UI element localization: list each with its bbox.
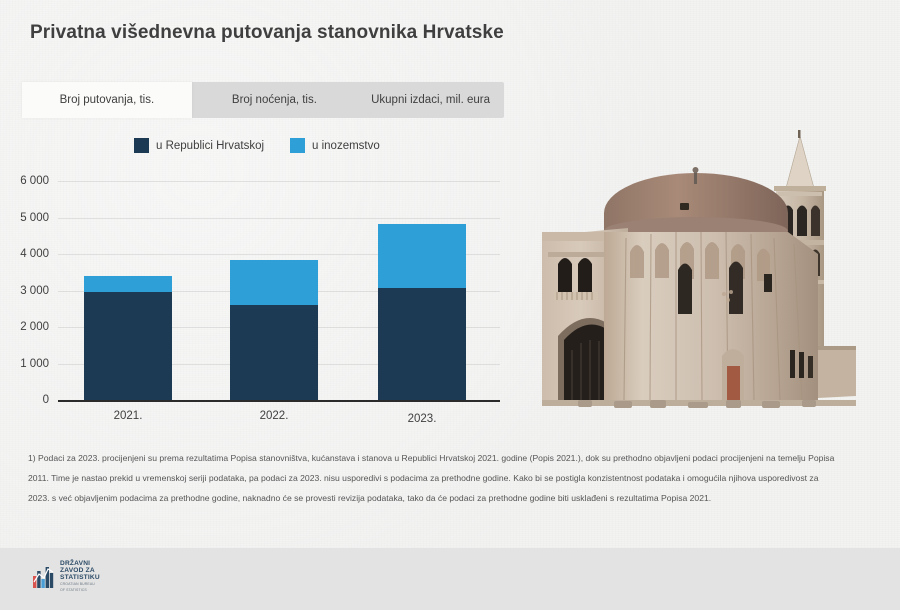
footnote-text: 1) Podaci za 2023. procijenjeni su prema… (28, 448, 840, 509)
ytick-label-2000: 2 000 (20, 321, 49, 333)
right-wall (818, 346, 856, 398)
stone-base (542, 400, 856, 408)
rotunda-body (604, 232, 818, 400)
church-illustration (518, 128, 880, 420)
legend-item-domestic[interactable]: u Republici Hrvatskoj (134, 138, 264, 153)
page-footer: DRŽAVNI ZAVOD ZA STATISTIKU CROATIAN BUR… (0, 548, 900, 610)
tab-label: Broj noćenja, tis. (232, 94, 317, 106)
bar-segment-domestic-2022[interactable] (230, 305, 318, 401)
tab-broj-putovanja[interactable]: Broj putovanja, tis. (22, 82, 192, 118)
plot-area: 6 000 5 000 4 000 3 000 2 000 1 000 0 (58, 182, 500, 401)
bar-segment-domestic-2021[interactable] (84, 292, 172, 401)
logo-wordmark: DRŽAVNI ZAVOD ZA STATISTIKU CROATIAN BUR… (60, 560, 100, 593)
logo-line-3: STATISTIKU (60, 574, 100, 581)
tab-label: Broj putovanja, tis. (60, 94, 155, 106)
ytick-label-3000: 3 000 (20, 285, 49, 297)
legend-swatch-abroad (290, 138, 305, 153)
dzs-logo[interactable]: DRŽAVNI ZAVOD ZA STATISTIKU CROATIAN BUR… (33, 560, 100, 593)
logo-line-2: ZAVOD ZA (60, 567, 100, 574)
legend-label-abroad: u inozemstvo (312, 140, 380, 152)
x-axis-line (58, 400, 500, 402)
xtick-label-2023-text: 2023. (408, 413, 437, 425)
ytick-label-5000: 5 000 (20, 212, 49, 224)
tab-ukupni-izdaci[interactable]: Ukupni izdaci, mil. eura (357, 82, 504, 118)
tab-label: Ukupni izdaci, mil. eura (371, 94, 490, 106)
chart-legend: u Republici Hrvatskoj u inozemstvo (134, 138, 380, 153)
bar-segment-abroad-2021[interactable] (84, 276, 172, 292)
photo-church-of-st-donatus (518, 128, 880, 420)
logo-subline-2: OF STATISTICS (60, 589, 100, 593)
tab-bar: Broj putovanja, tis. Broj noćenja, tis. … (22, 82, 504, 118)
logo-subline-1: CROATIAN BUREAU (60, 583, 100, 587)
xtick-label-2021: 2021. (84, 410, 172, 422)
ytick-label-6000: 6 000 (20, 175, 49, 187)
xtick-label-2022: 2022. (230, 410, 318, 422)
legend-label-domestic: u Republici Hrvatskoj (156, 140, 264, 152)
infographic-page: Privatna višednevna putovanja stanovnika… (0, 0, 900, 610)
bar-chart-logo-icon (33, 563, 55, 589)
legend-swatch-domestic (134, 138, 149, 153)
stacked-bar-chart: 6 000 5 000 4 000 3 000 2 000 1 000 0 (0, 160, 510, 420)
bar-segment-domestic-2023[interactable] (378, 288, 466, 401)
bar-segment-abroad-2023[interactable] (378, 224, 466, 288)
page-title: Privatna višednevna putovanja stanovnika… (30, 22, 504, 44)
gridline-5000: 5 000 (58, 218, 500, 219)
gridline-6000: 6 000 (58, 181, 500, 182)
ytick-label-1000: 1 000 (20, 358, 49, 370)
logo-line-1: DRŽAVNI (60, 560, 100, 567)
ytick-label-0: 0 (43, 394, 49, 406)
ytick-label-4000: 4 000 (20, 248, 49, 260)
tab-broj-nocenja[interactable]: Broj noćenja, tis. (192, 82, 357, 118)
xtick-label-2023: 2023. (378, 410, 466, 425)
legend-item-abroad[interactable]: u inozemstvo (290, 138, 380, 153)
bar-segment-abroad-2022[interactable] (230, 260, 318, 305)
